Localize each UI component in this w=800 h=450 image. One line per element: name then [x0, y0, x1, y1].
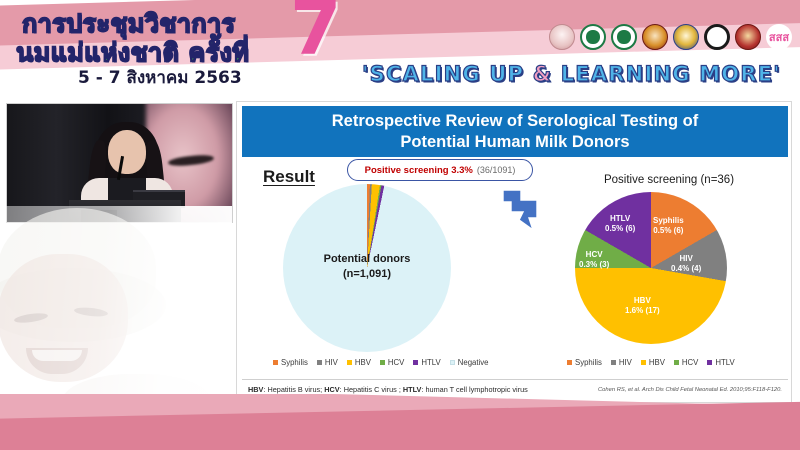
legend-item-syphilis: Syphilis [567, 358, 602, 367]
legend-label-hcv: HCV [388, 358, 404, 367]
potential-donors-caption-line2: (n=1,091) [343, 268, 391, 280]
thaihealth-sss-logo: สสส [766, 24, 792, 50]
legend-swatch-hiv [611, 360, 616, 365]
slice-label-hiv: HIV 0.4% (4) [671, 254, 701, 274]
tagline-part1: 'SCALING UP [362, 62, 533, 86]
tagline-part2: LEARNING MORE' [552, 62, 781, 86]
legend-item-hiv: HIV [611, 358, 632, 367]
legend-label-negative: Negative [458, 358, 489, 367]
royal-patronage-logo [549, 24, 575, 50]
legend-label-hiv: HIV [325, 358, 338, 367]
legend-swatch-hcv [674, 360, 679, 365]
potential-donors-pie-chart: Potential donors (n=1,091) [283, 184, 451, 352]
presentation-screen: การประชุมวิชาการ นมแม่แห่งชาติ ครั้งที่ … [0, 0, 800, 450]
legend-item-syphilis: Syphilis [273, 358, 308, 367]
slide-title-line1: Retrospective Review of Serological Test… [332, 111, 698, 131]
legend-label-syphilis: Syphilis [575, 358, 602, 367]
sponsor-logo-row: สสส [549, 24, 792, 50]
slice-label-syphilis-value: 0.5% (6) [653, 226, 683, 235]
legend-label-hbv: HBV [649, 358, 665, 367]
potential-donors-caption: Potential donors (n=1,091) [283, 252, 451, 282]
legend-item-negative: Negative [450, 358, 489, 367]
flow-arrow-icon [499, 188, 541, 232]
legend-label-htlv: HTLV [715, 358, 734, 367]
legend-label-htlv: HTLV [421, 358, 440, 367]
slide-content: Retrospective Review of Serological Test… [236, 101, 792, 403]
legend-item-hiv: HIV [317, 358, 338, 367]
slide-title: Retrospective Review of Serological Test… [242, 106, 788, 157]
logo-inner-mark [617, 30, 630, 43]
slide-title-line2: Potential Human Milk Donors [400, 132, 629, 152]
legend-label-syphilis: Syphilis [281, 358, 308, 367]
conference-edition-number: 7 [290, 0, 342, 66]
slice-label-hiv-value: 0.4% (4) [671, 264, 701, 273]
slice-label-htlv-name: HTLV [605, 214, 635, 224]
legend-swatch-negative [450, 360, 455, 365]
legend-swatch-hbv [347, 360, 352, 365]
tagline-ampersand: & [533, 62, 553, 86]
legend-swatch-hcv [380, 360, 385, 365]
slice-label-hiv-name: HIV [671, 254, 701, 264]
slice-label-hbv-name: HBV [625, 296, 660, 306]
legend-item-hcv: HCV [380, 358, 404, 367]
positive-screening-callout: Positive screening 3.3% (36/1091) [347, 159, 533, 181]
legend-label-hiv: HIV [619, 358, 632, 367]
legend-swatch-htlv [413, 360, 418, 365]
conference-tagline: 'SCALING UP & LEARNING MORE' [362, 62, 781, 86]
ministry-of-public-health-logo [580, 24, 606, 50]
slice-label-hbv: HBV 1.6% (17) [625, 296, 660, 316]
legend-potential-donors: SyphilisHIVHBVHCVHTLVNegative [273, 358, 489, 367]
slice-label-hbv-value: 1.6% (17) [625, 306, 660, 315]
potential-donors-caption-line1: Potential donors [324, 253, 411, 265]
legend-label-hcv: HCV [682, 358, 698, 367]
legend-item-hbv: HBV [347, 358, 371, 367]
national-health-foundation-logo [704, 24, 730, 50]
legend-item-htlv: HTLV [707, 358, 734, 367]
slice-label-hcv: HCV 0.3% (3) [579, 250, 609, 270]
legend-label-hbv: HBV [355, 358, 371, 367]
positive-screening-pie-chart: Syphilis 0.5% (6) HIV 0.4% (4) HBV 1.6% … [575, 192, 727, 344]
legend-item-hcv: HCV [674, 358, 698, 367]
department-of-health-logo [611, 24, 637, 50]
speaker-video-feed[interactable] [6, 103, 233, 223]
royal-crest-logo [673, 24, 699, 50]
legend-swatch-syphilis [567, 360, 572, 365]
conference-banner: การประชุมวิชาการ นมแม่แห่งชาติ ครั้งที่ … [0, 0, 800, 96]
logo-inner-mark [586, 30, 599, 43]
legend-swatch-hiv [317, 360, 322, 365]
source-citation: Cohen RS, et al. Arch Dis Child Fetal Ne… [598, 387, 782, 393]
slice-label-hcv-name: HCV [579, 250, 609, 260]
conference-date-thai: 5 - 7 สิงหาคม 2563 [78, 64, 242, 91]
slice-label-hcv-value: 0.3% (3) [579, 260, 609, 269]
callout-percent: Positive screening 3.3% [365, 165, 473, 176]
legend-swatch-htlv [707, 360, 712, 365]
legend-swatch-hbv [641, 360, 646, 365]
slice-label-syphilis: Syphilis 0.5% (6) [653, 216, 684, 236]
speaker-face [108, 130, 146, 174]
legend-item-hbv: HBV [641, 358, 665, 367]
callout-fraction: (36/1091) [477, 165, 516, 175]
legend-item-htlv: HTLV [413, 358, 440, 367]
legend-swatch-syphilis [273, 360, 278, 365]
slice-label-syphilis-name: Syphilis [653, 216, 684, 226]
footer-banner [0, 394, 800, 450]
positive-screening-heading: Positive screening (n=36) [549, 174, 789, 186]
university-seal-logo [735, 24, 761, 50]
abbreviation-footnote: HBV: Hepatitis B virus; HCV: Hepatitis C… [248, 385, 528, 394]
slice-label-htlv-value: 0.5% (6) [605, 224, 635, 233]
legend-positive-screening: SyphilisHIVHBVHCVHTLV [567, 358, 735, 367]
slice-label-htlv: HTLV 0.5% (6) [605, 214, 635, 234]
thai-breastfeeding-centre-logo [642, 24, 668, 50]
